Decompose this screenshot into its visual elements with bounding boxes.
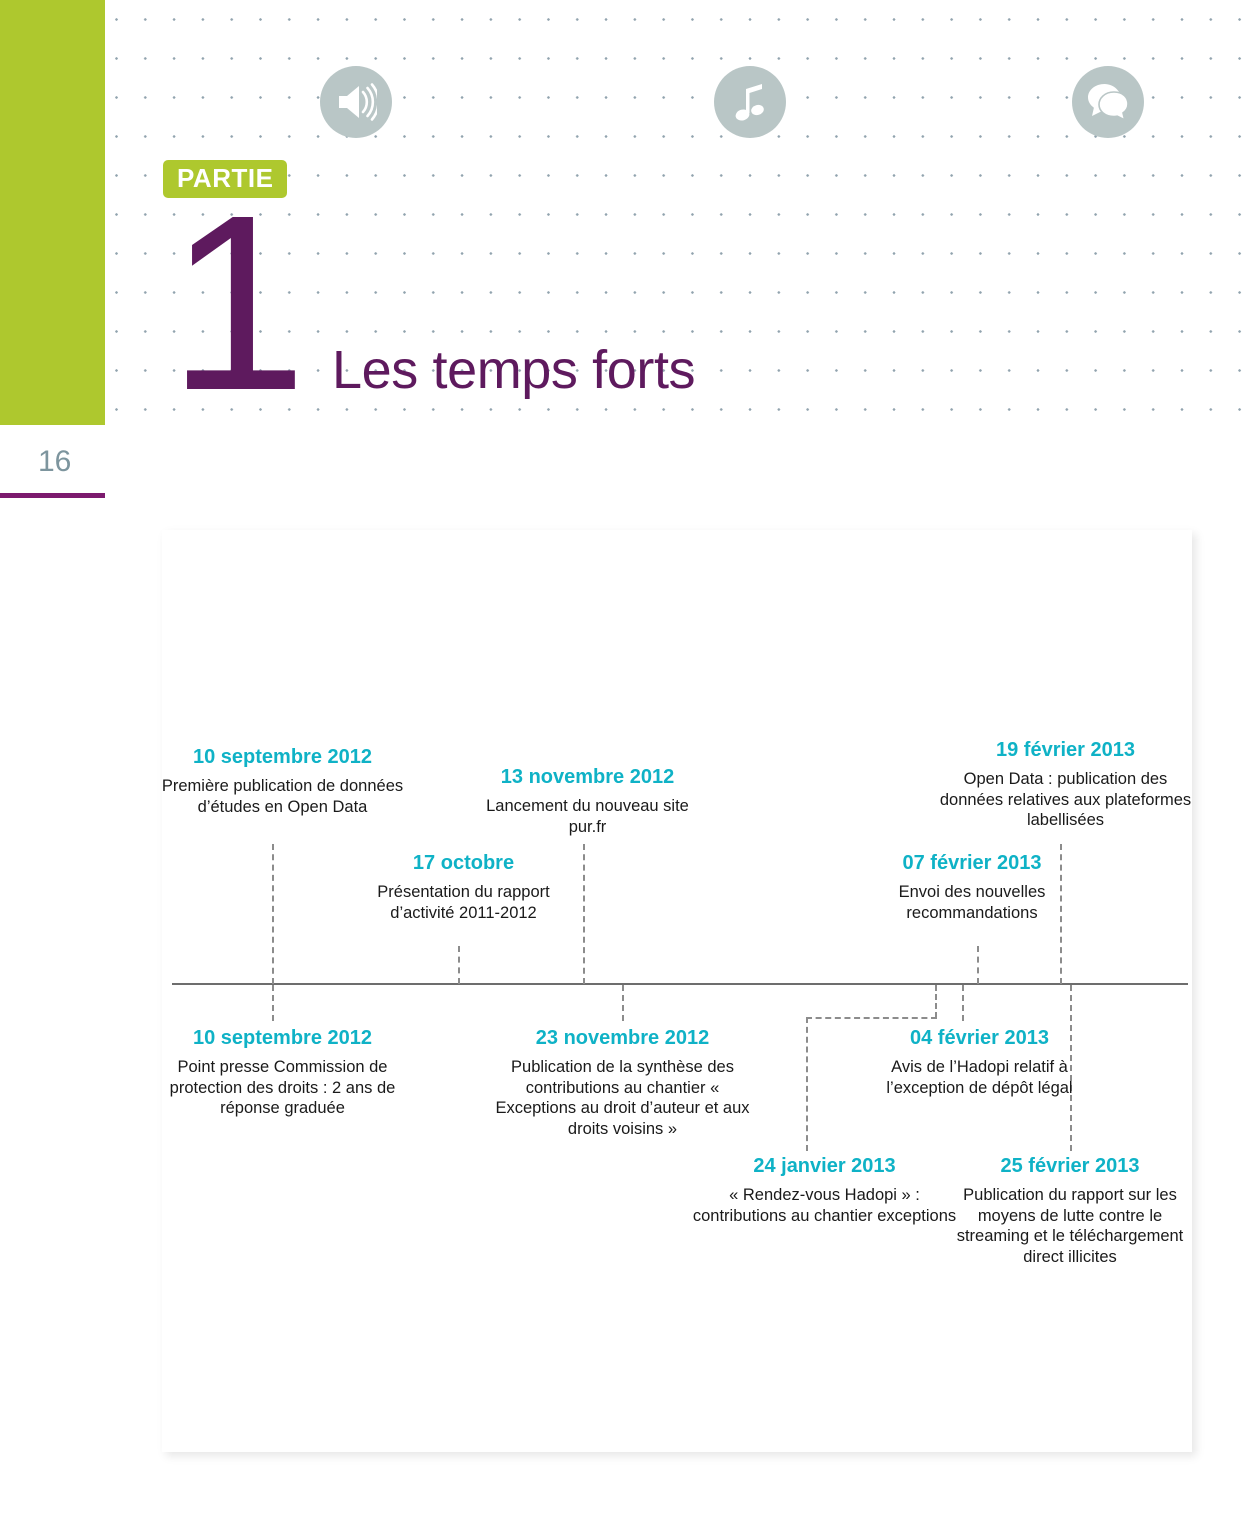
- page-header: PARTIE 1 Les temps forts: [0, 0, 1253, 425]
- timeline-event-above-5: 19 février 2013 Open Data : publication …: [933, 738, 1198, 831]
- page-title: Les temps forts: [332, 340, 695, 400]
- page-number-rule: [0, 493, 105, 498]
- event-description: Point presse Commission de protection de…: [150, 1057, 415, 1119]
- event-date: 23 novembre 2012: [490, 1026, 755, 1051]
- event-description: Publication de la synthèse des contribut…: [490, 1057, 755, 1139]
- event-date: 10 septembre 2012: [150, 1026, 415, 1051]
- event-description: Lancement du nouveau site pur.fr: [470, 796, 705, 837]
- event-date: 07 février 2013: [879, 851, 1065, 876]
- speech-bubbles-icon: [1072, 66, 1144, 138]
- green-sidebar-band: [0, 0, 105, 425]
- event-description: Envoi des nouvelles recommandations: [879, 882, 1065, 923]
- timeline-event-below-5: 25 février 2013 Publication du rapport s…: [955, 1154, 1185, 1267]
- event-date: 24 janvier 2013: [692, 1154, 957, 1179]
- timeline-event-below-4: 04 février 2013 Avis de l’Hadopi relatif…: [872, 1026, 1087, 1098]
- event-date: 13 novembre 2012: [470, 765, 705, 790]
- event-description: Open Data : publication des données rela…: [933, 769, 1198, 831]
- timeline-card: [162, 530, 1192, 1452]
- event-description: Avis de l’Hadopi relatif à l’exception d…: [872, 1057, 1087, 1098]
- event-date: 17 octobre: [356, 851, 571, 876]
- timeline-event-above-3: 13 novembre 2012 Lancement du nouveau si…: [470, 765, 705, 837]
- timeline-event-below-3: 24 janvier 2013 « Rendez-vous Hadopi » :…: [692, 1154, 957, 1226]
- event-date: 25 février 2013: [955, 1154, 1185, 1179]
- music-note-icon: [714, 66, 786, 138]
- timeline-event-below-1: 10 septembre 2012 Point presse Commissio…: [150, 1026, 415, 1119]
- event-date: 10 septembre 2012: [150, 745, 415, 770]
- speaker-icon: [320, 66, 392, 138]
- event-description: Première publication de données d’études…: [150, 776, 415, 817]
- event-description: Publication du rapport sur les moyens de…: [955, 1185, 1185, 1267]
- event-description: Présentation du rapport d’activité 2011-…: [356, 882, 571, 923]
- timeline-event-below-2: 23 novembre 2012 Publication de la synth…: [490, 1026, 755, 1139]
- event-description: « Rendez-vous Hadopi » : contributions a…: [692, 1185, 957, 1226]
- timeline-event-above-2: 17 octobre Présentation du rapport d’act…: [356, 851, 571, 923]
- event-date: 04 février 2013: [872, 1026, 1087, 1051]
- timeline-event-above-1: 10 septembre 2012 Première publication d…: [150, 745, 415, 817]
- part-number: 1: [168, 178, 301, 428]
- page-number: 16: [38, 445, 71, 479]
- event-date: 19 février 2013: [933, 738, 1198, 763]
- timeline-event-above-4: 07 février 2013 Envoi des nouvelles reco…: [879, 851, 1065, 923]
